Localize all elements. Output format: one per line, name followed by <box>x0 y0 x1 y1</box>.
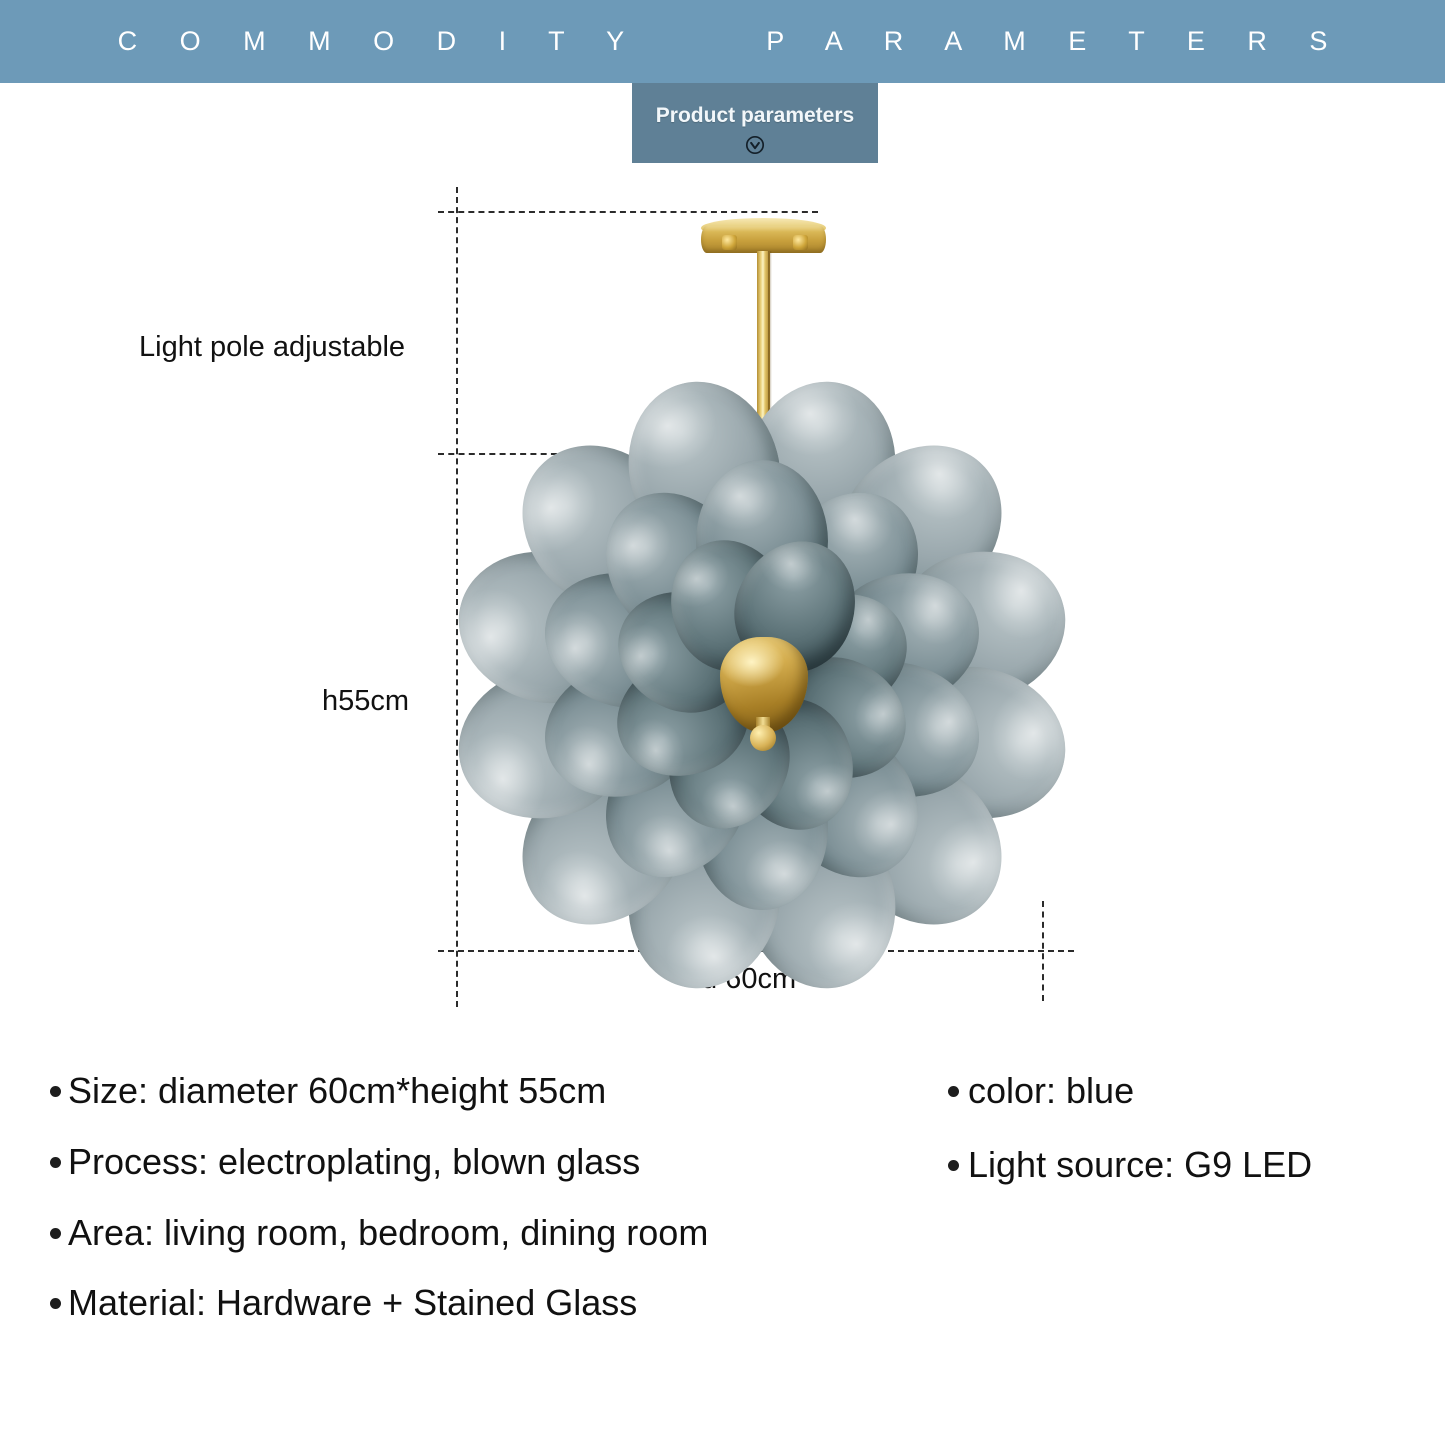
spec-left-item: Material: Hardware + Stained Glass <box>50 1284 930 1322</box>
specification-lists: Size: diameter 60cm*height 55cmProcess: … <box>0 1060 1445 1445</box>
spec-left-item: Size: diameter 60cm*height 55cm <box>50 1072 930 1110</box>
spec-left-text: Size: diameter 60cm*height 55cm <box>68 1072 606 1110</box>
spec-right-text: color: blue <box>968 1072 1134 1110</box>
bullet-icon <box>50 1086 61 1097</box>
bullet-icon <box>50 1298 61 1309</box>
spec-left-text: Material: Hardware + Stained Glass <box>68 1284 637 1322</box>
hub-finial-ball <box>750 725 776 751</box>
bullet-icon <box>948 1086 959 1097</box>
chevron-down-circle-icon <box>745 135 765 155</box>
product-dimension-diagram: Light pole adjustable h55cm d 60cm <box>0 163 1445 1053</box>
spec-list-right: color: blueLight source: G9 LED <box>948 1072 1428 1220</box>
canopy-screw-right <box>793 235 808 250</box>
spec-right-item: Light source: G9 LED <box>948 1146 1428 1184</box>
bullet-icon <box>948 1160 959 1171</box>
bullet-icon <box>50 1228 61 1239</box>
spec-left-item: Area: living room, bedroom, dining room <box>50 1214 930 1252</box>
tab-product-parameters[interactable]: Product parameters <box>632 83 878 163</box>
spec-right-item: color: blue <box>948 1072 1428 1110</box>
spec-left-text: Process: electroplating, blown glass <box>68 1143 640 1181</box>
bullet-icon <box>50 1157 61 1168</box>
header-banner: C O M M O D I T Y P A R A M E T E R S <box>0 0 1445 83</box>
globe-cluster <box>452 435 1072 935</box>
spec-left-text: Area: living room, bedroom, dining room <box>68 1214 708 1252</box>
spec-left-item: Process: electroplating, blown glass <box>50 1143 930 1181</box>
spec-right-text: Light source: G9 LED <box>968 1146 1312 1184</box>
page-title: C O M M O D I T Y P A R A M E T E R S <box>100 26 1345 57</box>
spec-list-left: Size: diameter 60cm*height 55cmProcess: … <box>50 1072 930 1355</box>
canopy-screw-left <box>722 235 737 250</box>
chandelier-product-image <box>0 163 1445 1053</box>
tab-product-parameters-label: Product parameters <box>656 104 854 128</box>
